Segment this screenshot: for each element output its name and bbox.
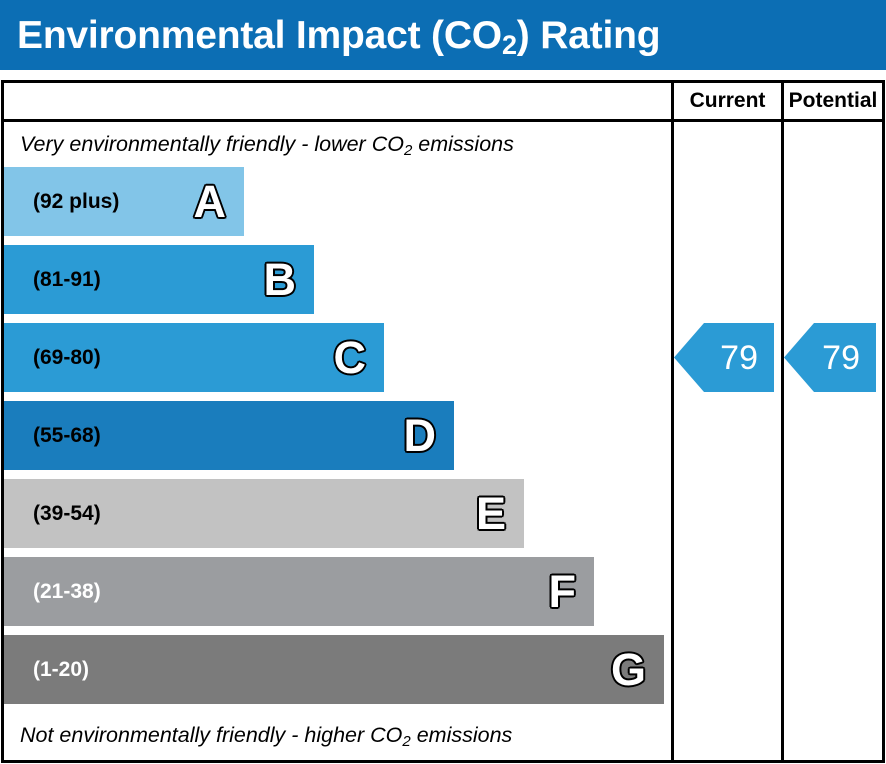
caption-bottom-text: Not environmentally friendly - higher CO (20, 723, 402, 747)
column-header-current-label: Current (690, 89, 766, 113)
rating-band-letter-d: D (404, 413, 437, 458)
page-title: Environmental Impact (CO2) Rating (0, 16, 660, 55)
rating-band-letter-f: F (549, 569, 577, 614)
caption-bottom: Not environmentally friendly - higher CO… (4, 723, 664, 748)
column-header-current: Current (671, 83, 781, 119)
rating-band-range-e: (39-54) (4, 502, 101, 526)
current-rating-arrow: 79 (674, 323, 774, 392)
rating-bands-list: (92 plus)A(81-91)B(69-80)C(55-68)D(39-54… (4, 167, 671, 716)
table-header-row: Current Potential (4, 83, 882, 122)
rating-band-range-f: (21-38) (4, 580, 101, 604)
table-body-row: Very environmentally friendly - lower CO… (4, 122, 882, 760)
column-header-potential: Potential (781, 83, 882, 119)
potential-rating-cell: 79 (784, 122, 882, 760)
current-rating-value: 79 (720, 341, 774, 375)
caption-top: Very environmentally friendly - lower CO… (4, 132, 664, 157)
rating-band-range-d: (55-68) (4, 424, 101, 448)
rating-band-letter-b: B (264, 257, 297, 302)
rating-band-range-b: (81-91) (4, 268, 101, 292)
rating-band-g: (1-20)G (4, 635, 664, 704)
rating-band-letter-e: E (476, 491, 506, 536)
rating-band-f: (21-38)F (4, 557, 594, 626)
page-title-text: Environmental Impact (CO (17, 14, 502, 57)
rating-band-letter-a: A (194, 179, 227, 224)
rating-band-a: (92 plus)A (4, 167, 244, 236)
chart-title-bar: Environmental Impact (CO2) Rating (0, 0, 886, 70)
epc-environmental-impact-chart: Environmental Impact (CO2) Rating Curren… (0, 0, 886, 764)
page-title-subscript: 2 (502, 30, 517, 60)
potential-rating-value: 79 (822, 341, 876, 375)
rating-band-d: (55-68)D (4, 401, 454, 470)
rating-bands-column: Very environmentally friendly - lower CO… (4, 122, 671, 760)
column-header-potential-label: Potential (789, 89, 878, 113)
rating-band-range-a: (92 plus) (4, 190, 119, 214)
rating-band-e: (39-54)E (4, 479, 524, 548)
caption-top-text: Very environmentally friendly - lower CO (20, 132, 404, 156)
rating-table: Current Potential Very environmentally f… (1, 80, 885, 763)
caption-bottom-suffix: emissions (411, 723, 513, 747)
rating-band-letter-c: C (334, 335, 367, 380)
rating-band-letter-g: G (611, 647, 646, 692)
rating-band-range-c: (69-80) (4, 346, 101, 370)
current-rating-cell: 79 (674, 122, 781, 760)
rating-band-c: (69-80)C (4, 323, 384, 392)
potential-rating-arrow: 79 (784, 323, 876, 392)
caption-top-suffix: emissions (412, 132, 514, 156)
caption-top-subscript: 2 (404, 142, 412, 159)
caption-bottom-subscript: 2 (402, 733, 410, 750)
rating-band-range-g: (1-20) (4, 658, 89, 682)
rating-band-b: (81-91)B (4, 245, 314, 314)
page-title-suffix: ) Rating (517, 14, 661, 57)
